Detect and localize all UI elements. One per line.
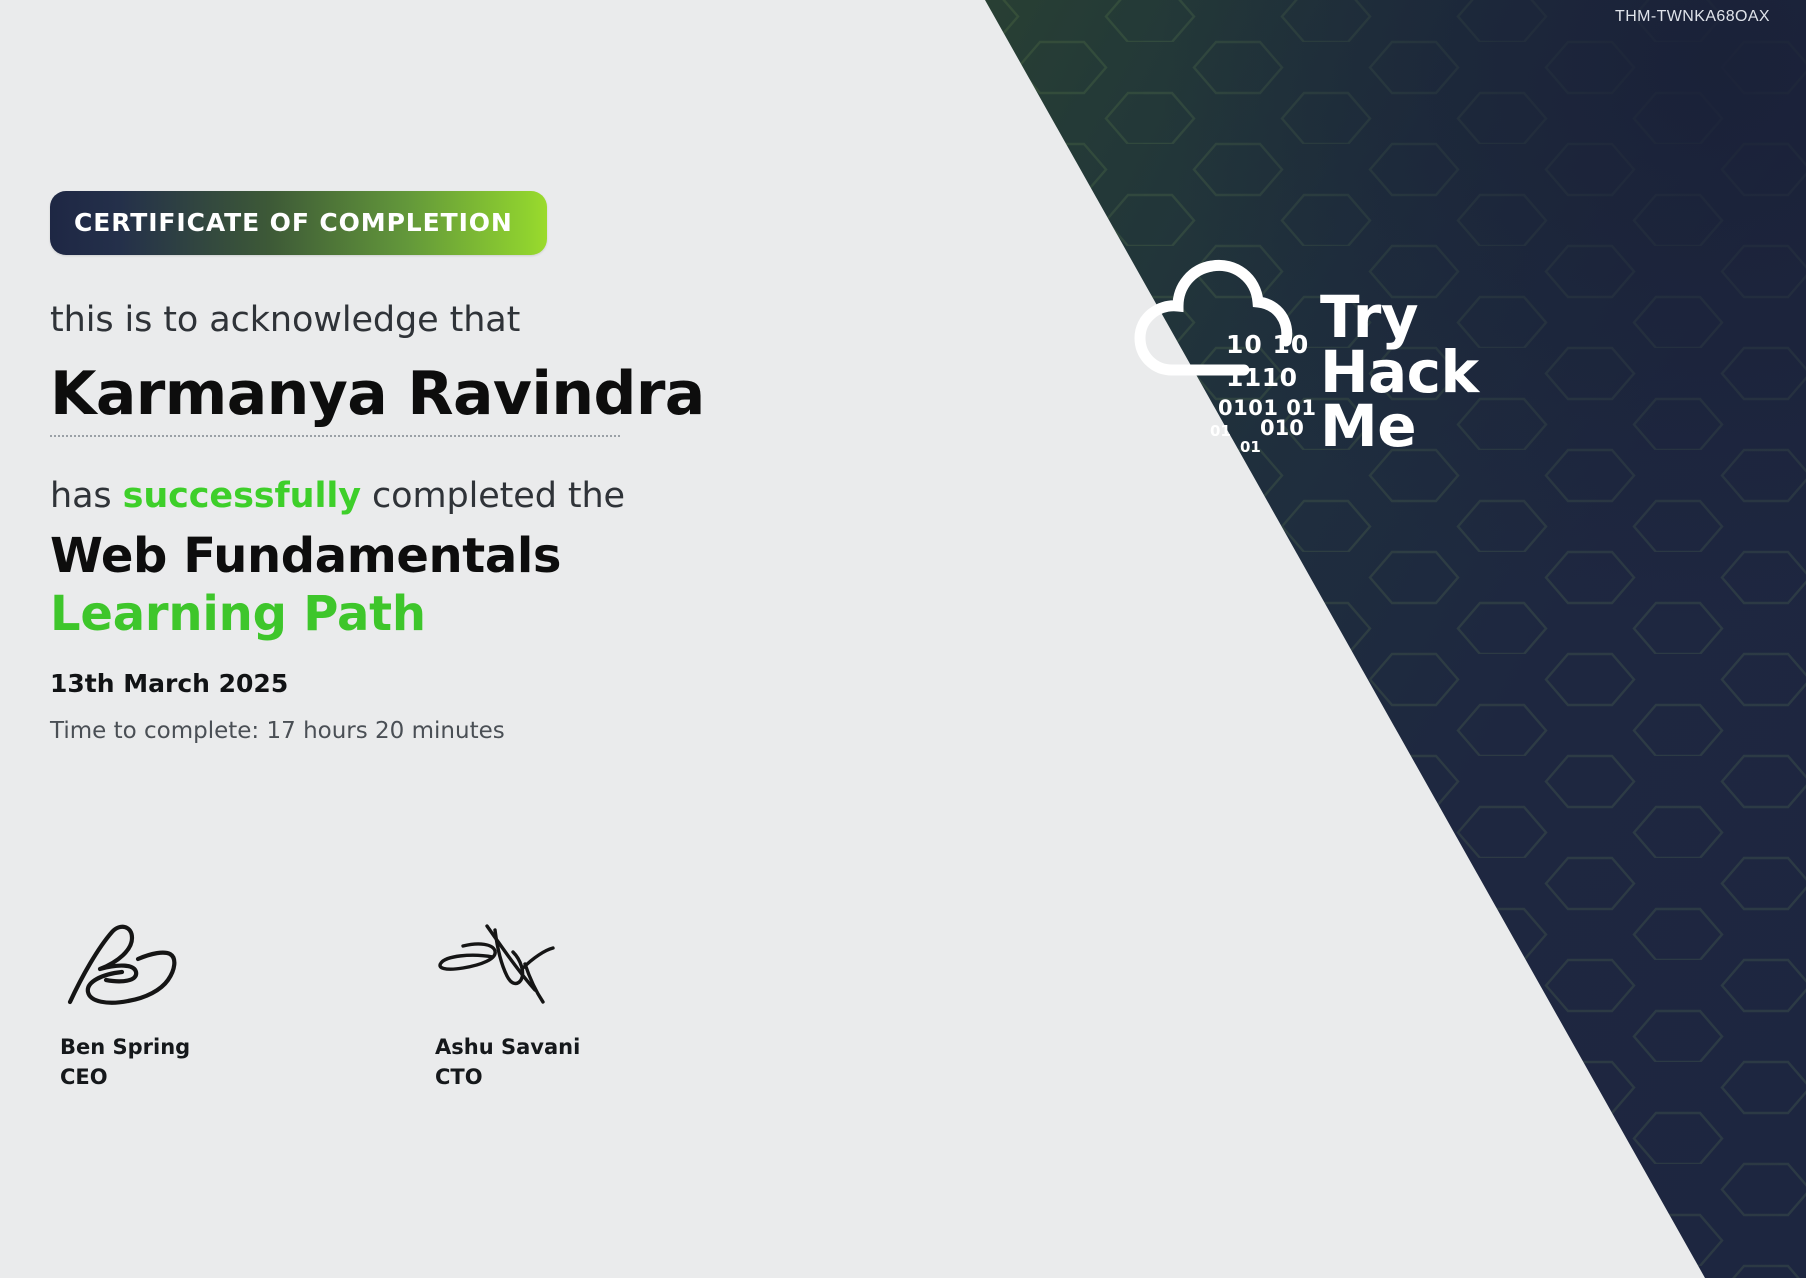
logo-word-line: Hack <box>1320 345 1479 400</box>
certificate-content: CERTIFICATE OF COMPLETION this is to ack… <box>50 0 950 744</box>
tryhackme-logo: 10 10 1110 0101 01 01 010 01 Try Hack Me <box>1120 252 1520 482</box>
logo-word-line: Me <box>1320 399 1479 454</box>
certificate-id: THM-TWNKA68OAX <box>1615 8 1770 26</box>
completion-statement: has successfully completed the <box>50 476 950 516</box>
course-name: Web Fundamentals <box>50 530 950 584</box>
completion-highlight: successfully <box>123 476 361 516</box>
recipient-name: Karmanya Ravindra <box>50 363 950 427</box>
certificate: THM-TWNKA68OAX CERTIFICATE OF COMPLETION… <box>0 0 1806 1278</box>
completion-suffix: completed the <box>361 476 625 516</box>
signatory-name: Ashu Savani <box>435 1032 655 1062</box>
binary-digit: 1110 <box>1226 363 1298 392</box>
binary-digit: 10 10 <box>1226 330 1309 359</box>
signature-area: Ben Spring CEO Ashu Savani CTO <box>60 920 655 1093</box>
acknowledgement-text: this is to acknowledge that <box>50 300 950 340</box>
signatory-role: CEO <box>60 1062 280 1092</box>
signatory-role: CTO <box>435 1062 655 1092</box>
course-type: Learning Path <box>50 588 950 642</box>
binary-digit: 010 <box>1260 416 1304 440</box>
signatory-name: Ben Spring <box>60 1032 280 1062</box>
signature-ashu-savani-icon <box>435 920 655 1010</box>
signatory-block: Ashu Savani CTO <box>435 920 655 1093</box>
recipient-underline <box>50 435 620 437</box>
binary-digit: 01 <box>1210 422 1231 440</box>
completion-prefix: has <box>50 476 123 516</box>
binary-rain: 10 10 1110 0101 01 01 010 01 <box>1208 330 1333 440</box>
issue-date: 13th March 2025 <box>50 669 950 698</box>
signature-ben-spring-icon <box>60 920 280 1010</box>
logo-wordmark: Try Hack Me <box>1320 290 1479 454</box>
logo-word-line: Try <box>1320 290 1479 345</box>
binary-digit: 01 <box>1240 438 1261 456</box>
signatory-block: Ben Spring CEO <box>60 920 280 1093</box>
completion-duration: Time to complete: 17 hours 20 minutes <box>50 718 950 744</box>
completion-badge: CERTIFICATE OF COMPLETION <box>50 191 547 255</box>
